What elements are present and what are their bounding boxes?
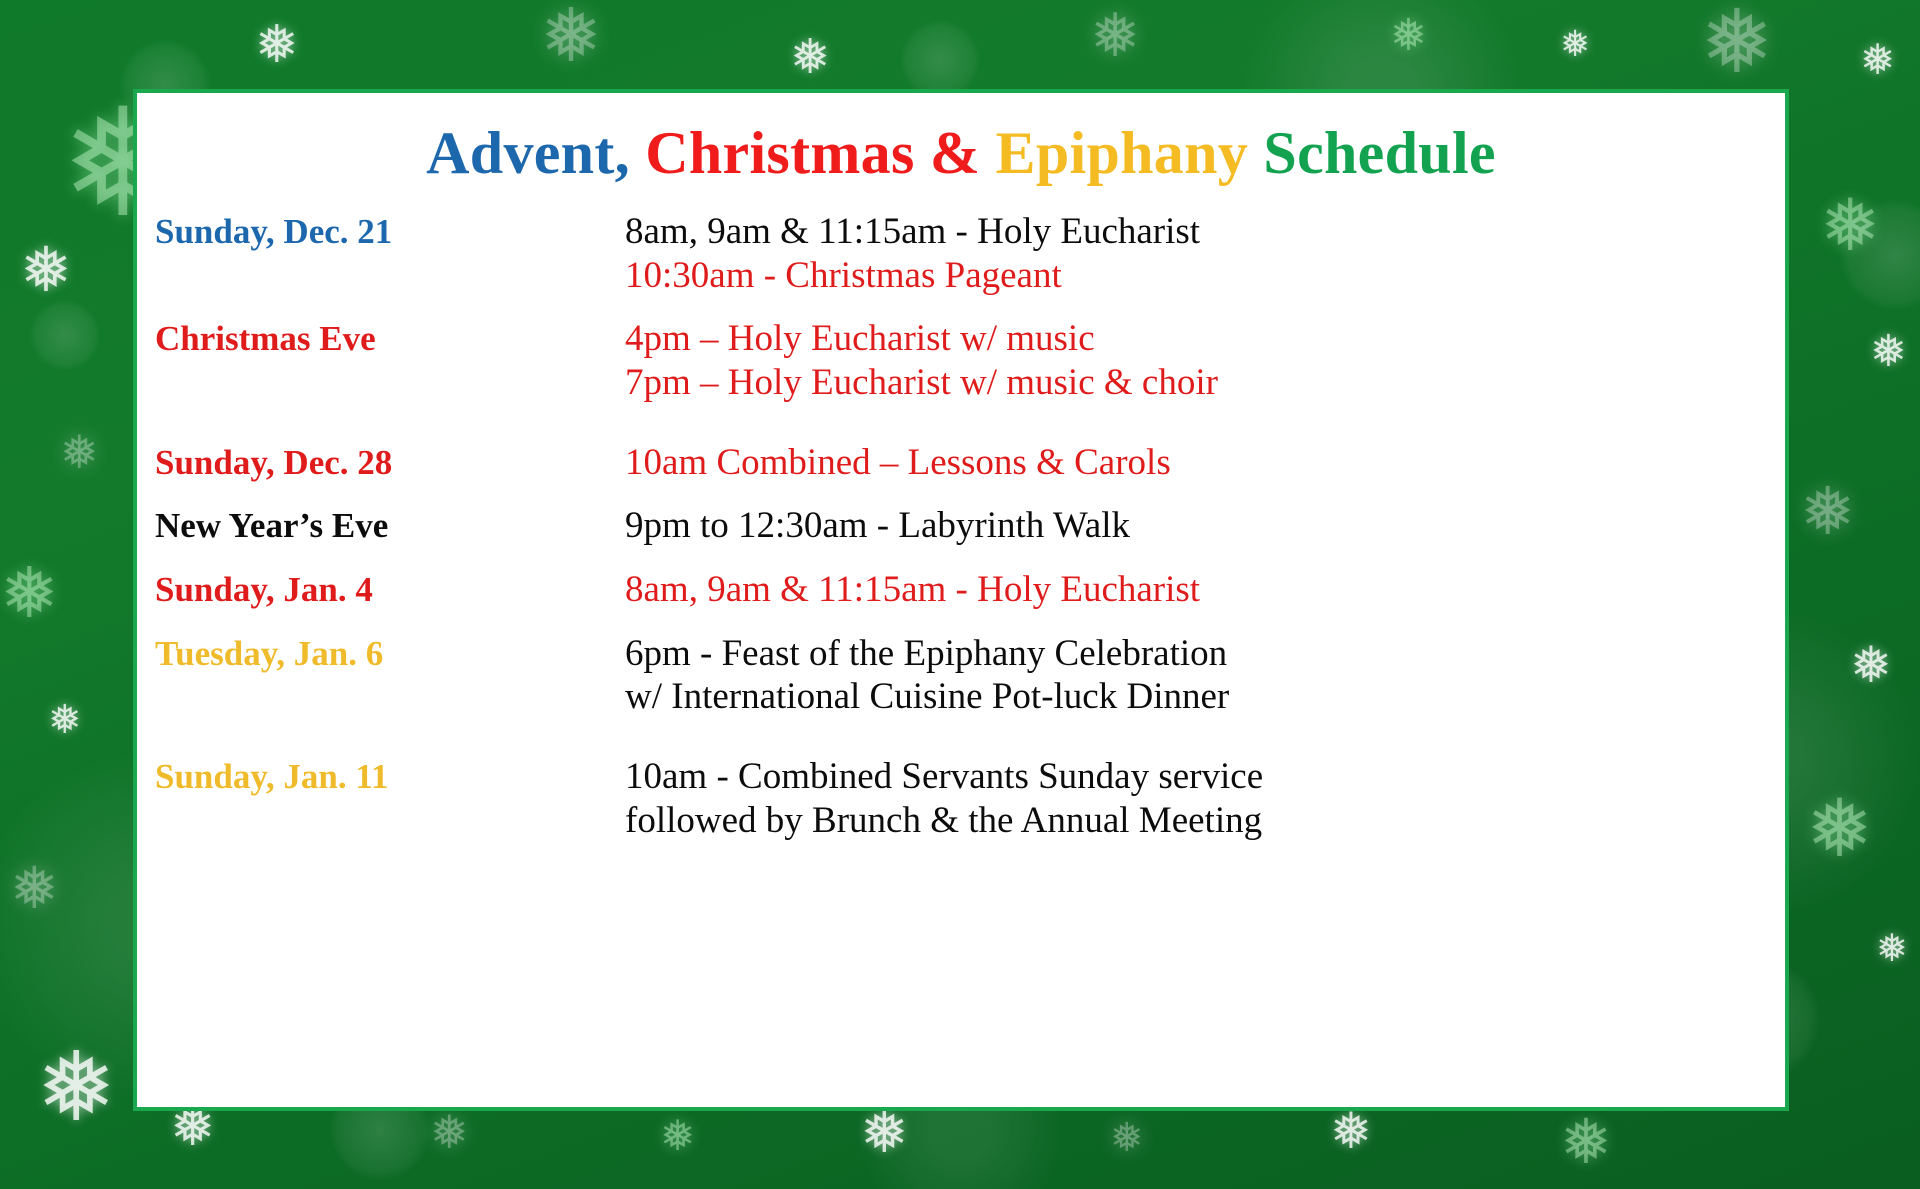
title-word-advent: Advent, xyxy=(426,120,630,186)
snowflake-icon: ❅ xyxy=(60,430,99,476)
snowflake-icon: ❅ xyxy=(660,1116,695,1158)
title-word-schedule: Schedule xyxy=(1263,120,1495,186)
snowflake-icon: ❅ xyxy=(48,700,82,740)
bokeh-dot xyxy=(900,20,980,100)
schedule-row: Sunday, Dec. 28 10am Combined – Lessons … xyxy=(155,441,1785,485)
schedule-row-label: Christmas Eve xyxy=(155,317,625,359)
schedule-row-label: Tuesday, Jan. 6 xyxy=(155,632,625,674)
snowflake-icon: ❅ xyxy=(1090,6,1140,66)
schedule-detail-line: 4pm – Holy Eucharist w/ music xyxy=(625,317,1785,361)
snowflake-icon: ❅ xyxy=(860,1104,909,1162)
snowflake-icon: ❅ xyxy=(1800,480,1855,546)
schedule-detail-line: 6pm - Feast of the Epiphany Celebration xyxy=(625,632,1785,676)
snowflake-icon: ❅ xyxy=(1560,26,1590,62)
schedule-row-detail: 10am - Combined Servants Sunday service … xyxy=(625,755,1785,842)
snowflake-icon: ❅ xyxy=(1560,1112,1612,1174)
snowflake-icon: ❅ xyxy=(540,0,602,74)
schedule-detail-line: followed by Brunch & the Annual Meeting xyxy=(625,799,1785,843)
schedule-row-detail: 8am, 9am & 11:15am - Holy Eucharist 10:3… xyxy=(625,210,1785,297)
schedule-row-detail: 6pm - Feast of the Epiphany Celebration … xyxy=(625,632,1785,719)
title-word-christmas: Christmas xyxy=(645,120,914,186)
schedule-detail-line: w/ International Cuisine Pot-luck Dinner xyxy=(625,675,1785,719)
schedule-detail-line: 10am Combined – Lessons & Carols xyxy=(625,441,1785,485)
schedule-row-detail: 8am, 9am & 11:15am - Holy Eucharist xyxy=(625,568,1785,612)
snowflake-icon: ❅ xyxy=(1870,330,1907,374)
schedule-row: Christmas Eve 4pm – Holy Eucharist w/ mu… xyxy=(155,317,1785,404)
snowflake-icon: ❅ xyxy=(1860,40,1895,82)
title-word-epiphany: Epiphany xyxy=(996,120,1249,186)
bokeh-dot xyxy=(30,300,100,370)
snowflake-icon: ❅ xyxy=(255,20,299,72)
schedule-row: New Year’s Eve 9pm to 12:30am - Labyrint… xyxy=(155,504,1785,548)
snowflake-icon: ❅ xyxy=(1876,930,1908,968)
schedule-row: Sunday, Jan. 11 10am - Combined Servants… xyxy=(155,755,1785,842)
schedule-row-detail: 10am Combined – Lessons & Carols xyxy=(625,441,1785,485)
snowflake-icon: ❅ xyxy=(430,1110,469,1156)
page-title: Advent, Christmas & Epiphany Schedule xyxy=(137,119,1785,188)
snowflake-icon: ❅ xyxy=(36,1040,116,1136)
schedule-list: Sunday, Dec. 21 8am, 9am & 11:15am - Hol… xyxy=(137,210,1785,842)
snowflake-icon: ❅ xyxy=(790,34,830,82)
schedule-detail-line: 10:30am - Christmas Pageant xyxy=(625,254,1785,298)
schedule-row-detail: 9pm to 12:30am - Labyrinth Walk xyxy=(625,504,1785,548)
schedule-detail-line: 8am, 9am & 11:15am - Holy Eucharist xyxy=(625,568,1785,612)
snowflake-icon: ❅ xyxy=(1110,1118,1144,1158)
schedule-detail-line: 10am - Combined Servants Sunday service xyxy=(625,755,1785,799)
snowflake-icon: ❅ xyxy=(1820,190,1880,262)
bokeh-dot xyxy=(1840,200,1920,310)
schedule-detail-line: 7pm – Holy Eucharist w/ music & choir xyxy=(625,361,1785,405)
schedule-row-detail: 4pm – Holy Eucharist w/ music 7pm – Holy… xyxy=(625,317,1785,404)
snowflake-icon: ❅ xyxy=(1850,640,1892,690)
schedule-row-label: New Year’s Eve xyxy=(155,504,625,546)
schedule-detail-line: 9pm to 12:30am - Labyrinth Walk xyxy=(625,504,1785,548)
schedule-detail-line: 8am, 9am & 11:15am - Holy Eucharist xyxy=(625,210,1785,254)
schedule-row: Sunday, Dec. 21 8am, 9am & 11:15am - Hol… xyxy=(155,210,1785,297)
poster-canvas: ❅ ❅ ❅ ❅ ❅ ❅ ❅ ❅ ❅ ❅ ❅ ❅ ❅ ❅ ❅ ❅ ❅ ❅ ❅ ❅ … xyxy=(0,0,1920,1189)
snowflake-icon: ❅ xyxy=(20,240,72,302)
schedule-row-label: Sunday, Dec. 21 xyxy=(155,210,625,252)
snowflake-icon: ❅ xyxy=(10,860,59,918)
schedule-row: Tuesday, Jan. 6 6pm - Feast of the Epiph… xyxy=(155,632,1785,719)
title-word-ampersand: & xyxy=(930,120,980,186)
snowflake-icon: ❅ xyxy=(1330,1106,1372,1156)
schedule-card: Advent, Christmas & Epiphany Schedule Su… xyxy=(133,89,1789,1111)
snowflake-icon: ❅ xyxy=(0,560,59,630)
snowflake-icon: ❅ xyxy=(1700,0,1774,88)
snowflake-icon: ❅ xyxy=(1390,14,1427,58)
snowflake-icon: ❅ xyxy=(1806,790,1873,870)
schedule-row: Sunday, Jan. 4 8am, 9am & 11:15am - Holy… xyxy=(155,568,1785,612)
schedule-row-label: Sunday, Jan. 4 xyxy=(155,568,625,610)
schedule-row-label: Sunday, Jan. 11 xyxy=(155,755,625,797)
schedule-row-label: Sunday, Dec. 28 xyxy=(155,441,625,483)
